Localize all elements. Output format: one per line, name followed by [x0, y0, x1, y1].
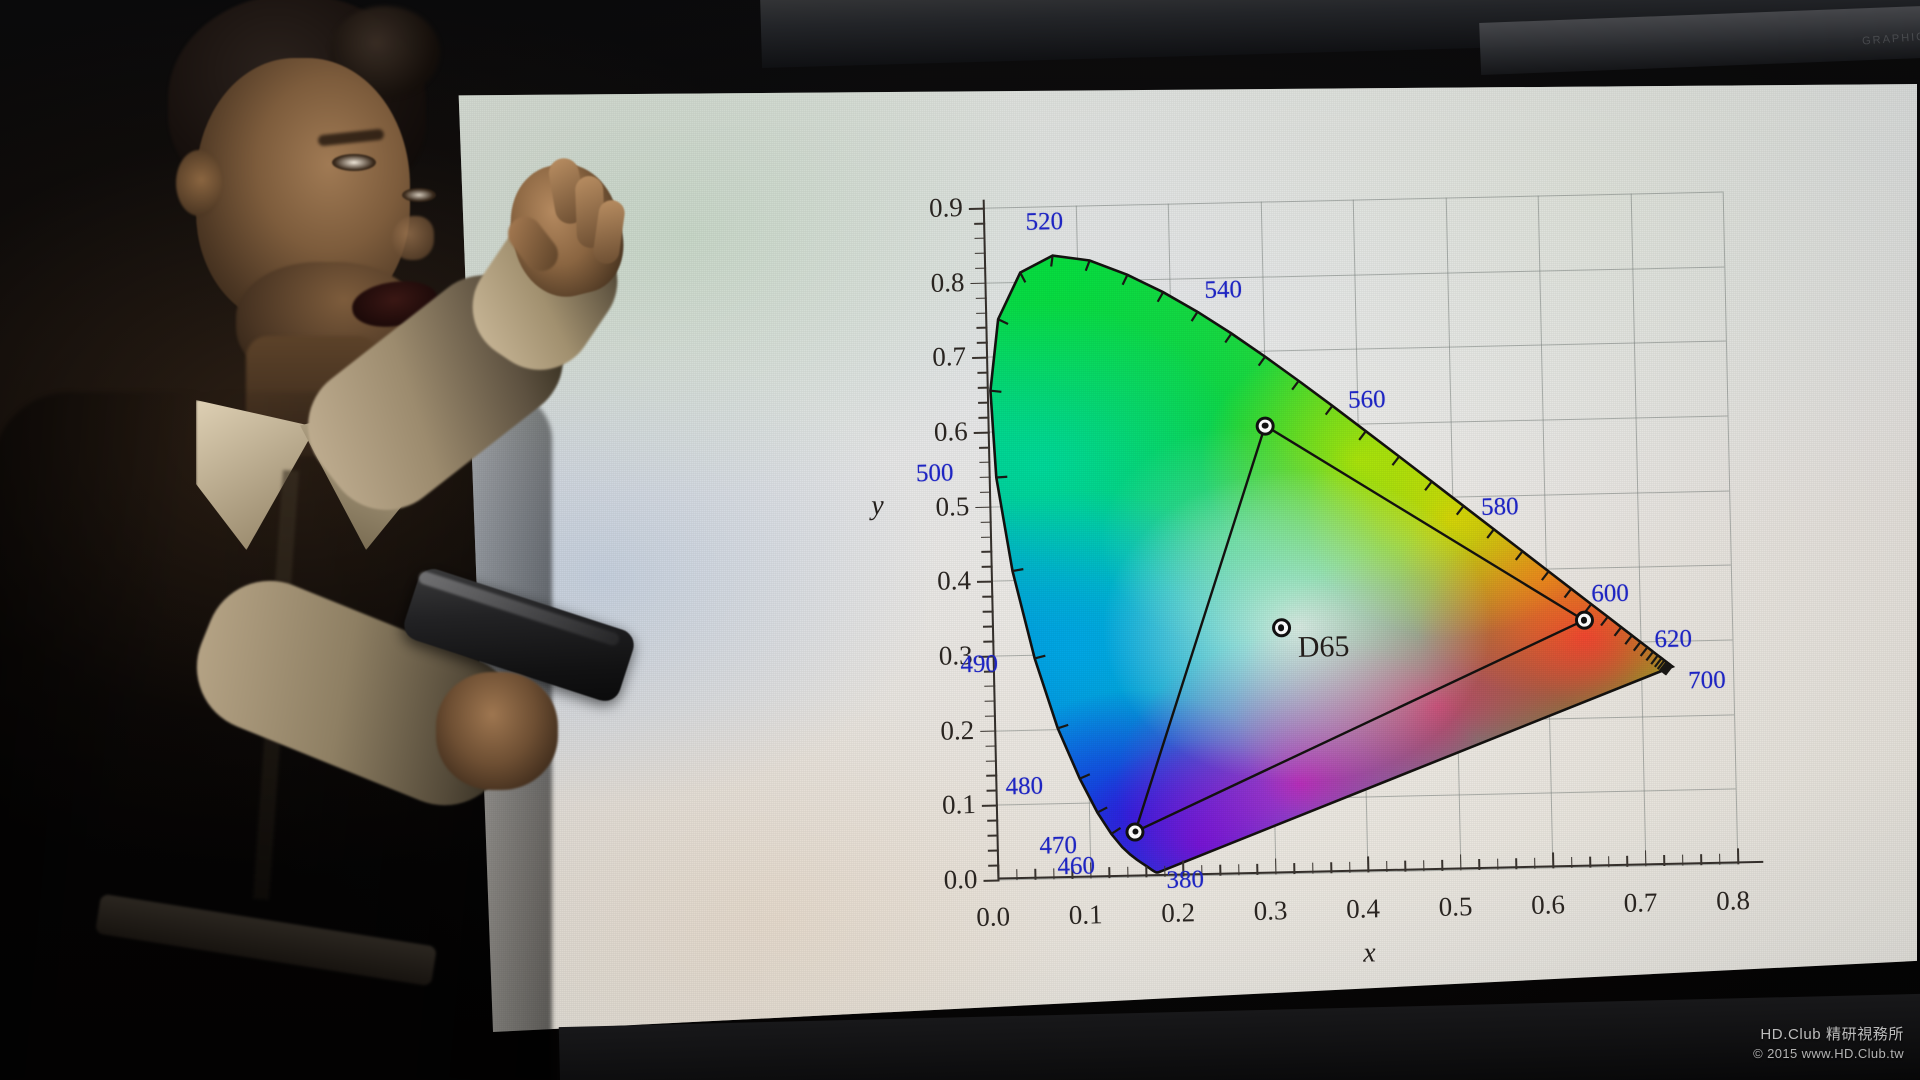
wavelength-label-500: 500: [916, 461, 954, 487]
x-axis-minor-tick: [1700, 854, 1702, 865]
y-axis-tick-label: 0.4: [915, 567, 972, 595]
y-axis-minor-tick: [976, 312, 987, 314]
y-axis-minor-tick: [976, 297, 987, 299]
y-axis-minor-tick: [986, 775, 997, 777]
x-axis-tick: [1460, 854, 1462, 870]
x-axis-tick-label: 0.1: [1068, 901, 1102, 929]
projection-screen: 0.00.10.20.30.40.50.60.70.80.00.10.20.30…: [455, 84, 1917, 1032]
x-axis-tick: [1645, 850, 1647, 866]
cie-chromaticity-chart: 0.00.10.20.30.40.50.60.70.80.00.10.20.30…: [785, 102, 1894, 1006]
gamut-vertex-red-primary: [1574, 611, 1593, 630]
y-axis-minor-tick: [983, 626, 994, 628]
watermark-line-2: © 2015 www.HD.Club.tw: [1753, 1045, 1904, 1062]
x-axis-minor-tick: [1349, 862, 1351, 873]
y-axis-minor-tick: [986, 760, 997, 762]
y-axis-minor-tick: [983, 611, 994, 613]
y-axis-minor-tick: [979, 447, 990, 449]
x-axis-tick: [1552, 852, 1554, 868]
x-axis-minor-tick: [1127, 867, 1129, 878]
x-axis-minor-tick: [1589, 857, 1591, 868]
white-point-marker-d65: [1272, 618, 1291, 637]
y-axis-minor-tick: [977, 342, 988, 344]
x-axis-tick-label: 0.0: [976, 903, 1010, 931]
gamut-vertex-green-primary: [1255, 416, 1274, 435]
x-axis-tick: [1737, 848, 1739, 864]
y-axis-minor-tick: [981, 521, 992, 523]
wavelength-label-700: 700: [1688, 668, 1726, 694]
ceiling-panel-text: GRAPHIC: [1862, 31, 1920, 48]
x-axis-minor-tick: [1312, 863, 1314, 874]
wavelength-label-480: 480: [1005, 774, 1043, 800]
x-axis-minor-tick: [1571, 857, 1573, 868]
x-axis-minor-tick: [1256, 864, 1258, 875]
y-axis-minor-tick: [988, 835, 999, 837]
wavelength-label-620: 620: [1654, 626, 1692, 652]
y-axis-title: y: [871, 490, 884, 522]
x-axis-tick: [1367, 856, 1369, 872]
x-axis-minor-tick: [1053, 868, 1055, 879]
y-axis-minor-tick: [975, 252, 986, 254]
y-axis-minor-tick: [983, 641, 994, 643]
x-axis-tick: [1275, 858, 1277, 874]
y-axis-minor-tick: [985, 715, 996, 717]
x-axis-minor-tick: [1293, 863, 1295, 874]
x-axis-minor-tick: [1404, 861, 1406, 872]
y-axis-minor-tick: [984, 685, 995, 687]
x-axis-tick-label: 0.2: [1161, 899, 1195, 927]
wavelength-label-540: 540: [1204, 277, 1242, 303]
y-axis-minor-tick: [975, 267, 986, 269]
wavelength-label-490: 490: [960, 651, 998, 677]
y-axis-minor-tick: [982, 596, 993, 598]
x-axis-tick-label: 0.6: [1531, 891, 1565, 919]
y-axis-tick: [975, 506, 991, 508]
x-axis-minor-tick: [1238, 864, 1240, 875]
y-axis-tick: [969, 208, 985, 210]
x-axis-minor-tick: [1423, 860, 1425, 871]
x-axis-minor-tick: [1219, 865, 1221, 876]
x-axis-tick-label: 0.4: [1346, 895, 1380, 923]
y-axis-minor-tick: [978, 417, 989, 419]
y-axis-minor-tick: [981, 551, 992, 553]
x-axis-tick-label: 0.7: [1623, 889, 1657, 917]
y-axis-tick: [983, 880, 999, 882]
x-axis-minor-tick: [1682, 855, 1684, 866]
wavelength-label-380: 380: [1166, 867, 1204, 893]
y-axis-minor-tick: [980, 476, 991, 478]
y-axis-tick: [970, 282, 986, 284]
y-axis-tick: [982, 805, 998, 807]
white-point-label-d65: D65: [1297, 630, 1349, 665]
y-axis-minor-tick: [976, 327, 987, 329]
y-axis-minor-tick: [980, 491, 991, 493]
y-axis-tick-label: 0.9: [907, 194, 964, 222]
y-axis-minor-tick: [974, 238, 985, 240]
x-axis-minor-tick: [1515, 858, 1517, 869]
wavelength-label-560: 560: [1348, 387, 1386, 413]
x-axis-tick-label: 0.5: [1438, 893, 1472, 921]
y-axis-minor-tick: [987, 820, 998, 822]
y-axis-tick-label: 0.0: [921, 866, 978, 894]
y-axis-minor-tick: [982, 566, 993, 568]
y-axis-tick-label: 0.5: [913, 493, 970, 521]
wavelength-label-580: 580: [1481, 494, 1519, 520]
y-axis-tick-label: 0.1: [920, 791, 977, 819]
chart-plot-area: 0.00.10.20.30.40.50.60.70.80.00.10.20.30…: [983, 192, 1737, 880]
x-axis-title: x: [1363, 937, 1376, 969]
y-axis-tick: [972, 357, 988, 359]
x-axis-minor-tick: [1016, 869, 1018, 880]
x-axis-minor-tick: [1386, 861, 1388, 872]
y-axis-minor-tick: [981, 536, 992, 538]
presentation-scene: GRAPHIC: [0, 0, 1920, 1080]
wavelength-label-600: 600: [1591, 581, 1629, 607]
watermark-line-1: HD.Club 精研視務所: [1753, 1025, 1904, 1045]
y-axis-minor-tick: [978, 387, 989, 389]
chromaticity-fill: [757, 11, 1799, 959]
x-axis-minor-tick: [1608, 856, 1610, 867]
y-axis-minor-tick: [987, 790, 998, 792]
x-axis-tick-label: 0.8: [1716, 887, 1750, 915]
y-axis-minor-tick: [988, 850, 999, 852]
x-axis-minor-tick: [1034, 869, 1036, 880]
y-axis-minor-tick: [979, 461, 990, 463]
watermark: HD.Club 精研視務所 © 2015 www.HD.Club.tw: [1753, 1025, 1904, 1062]
y-axis-tick-label: 0.7: [910, 343, 967, 371]
y-axis-minor-tick: [988, 865, 999, 867]
y-axis-minor-tick: [978, 402, 989, 404]
x-axis-minor-tick: [1108, 867, 1110, 878]
x-axis-minor-tick: [1626, 856, 1628, 867]
y-axis-tick: [974, 432, 990, 434]
spectral-locus-svg: [983, 190, 1798, 919]
y-axis-minor-tick: [986, 745, 997, 747]
y-axis-tick-label: 0.8: [908, 269, 965, 297]
y-axis-tick: [980, 730, 996, 732]
y-axis-minor-tick: [974, 223, 985, 225]
x-axis-minor-tick: [1441, 860, 1443, 871]
x-axis-minor-tick: [1145, 866, 1147, 877]
y-axis-minor-tick: [977, 372, 988, 374]
x-axis-minor-tick: [1663, 855, 1665, 866]
y-axis-tick-label: 0.2: [918, 717, 975, 745]
x-axis-minor-tick: [1719, 854, 1721, 865]
x-axis-tick: [997, 865, 999, 881]
y-axis-tick-label: 0.6: [911, 418, 968, 446]
x-axis-minor-tick: [1330, 862, 1332, 873]
wavelength-label-520: 520: [1025, 209, 1063, 235]
x-axis-minor-tick: [1497, 859, 1499, 870]
y-axis-minor-tick: [985, 700, 996, 702]
wavelength-label-460: 460: [1057, 853, 1095, 879]
x-axis-minor-tick: [1478, 859, 1480, 870]
x-axis-minor-tick: [1534, 858, 1536, 869]
x-axis-tick-label: 0.3: [1253, 897, 1287, 925]
